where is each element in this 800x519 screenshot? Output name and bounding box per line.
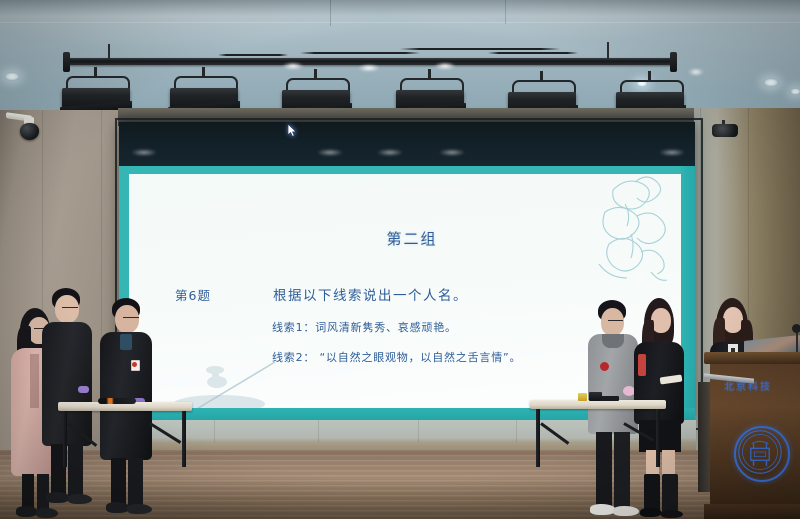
screen-dark-area <box>119 122 695 166</box>
podium-top <box>704 352 800 364</box>
light-flare <box>358 64 380 72</box>
folding-table-left <box>58 402 192 468</box>
dark-device-item <box>601 396 619 401</box>
table-leg <box>182 411 186 467</box>
wall-joint <box>318 420 319 442</box>
badge-dot <box>132 362 137 367</box>
table-leg <box>63 411 67 467</box>
table-leg <box>536 409 540 467</box>
ceiling-seam <box>330 0 331 26</box>
ceiling-seam <box>505 0 506 24</box>
truss-cable <box>218 54 288 56</box>
question-text: 根据以下线索说出一个人名。 <box>273 284 468 304</box>
ceiling-downlight <box>4 72 20 81</box>
podium-base <box>704 504 800 519</box>
shoe <box>46 492 70 503</box>
boot <box>644 474 660 512</box>
dome-security-camera-icon <box>6 112 46 146</box>
table-brace <box>67 422 97 447</box>
truss-cable <box>300 52 420 54</box>
coat-placket <box>30 354 39 408</box>
wall-joint <box>418 420 419 442</box>
ceiling-seam <box>0 22 800 23</box>
glasses <box>62 307 78 311</box>
truss-end-left <box>63 52 70 72</box>
truss-cable <box>488 52 578 54</box>
screen-glint <box>439 149 465 156</box>
light-flare <box>282 62 304 70</box>
collar <box>120 334 132 350</box>
light-flare <box>434 62 456 70</box>
slide-title: 第二组 <box>129 228 695 249</box>
ceiling-shadow-band <box>0 0 800 16</box>
ceiling-downlight <box>763 78 779 87</box>
head <box>651 308 671 333</box>
wireless-microphone-icon <box>98 398 136 404</box>
light-flare <box>688 68 704 76</box>
ceiling-downlight <box>790 88 800 95</box>
wall-joint <box>516 420 517 442</box>
yellow-box-item <box>578 393 587 401</box>
wall-joint <box>214 420 215 442</box>
truss-drop <box>607 42 609 60</box>
table-brace <box>623 422 654 442</box>
wall-mounted-camera-icon <box>712 120 740 140</box>
table-brace <box>540 422 569 444</box>
clue-line-2: 线索2： “以自然之眼观物，以自然之舌言情”。 <box>272 349 521 365</box>
podium[interactable]: 北京科技 <box>708 352 800 519</box>
university-emblem-icon <box>734 426 790 482</box>
camera-dome <box>20 123 39 140</box>
shoe <box>127 504 152 514</box>
mouse-pointer-icon <box>288 124 297 137</box>
leg <box>22 474 34 510</box>
clue-line-1: 线索1：词风清新隽秀、哀感顽艳。 <box>272 319 457 335</box>
podium-microphone-icon <box>792 324 800 333</box>
screen-glint <box>659 149 685 156</box>
table-leg <box>656 409 660 467</box>
table-brace <box>149 422 181 444</box>
held-object <box>78 386 89 393</box>
hood <box>602 334 624 348</box>
boot <box>662 474 678 512</box>
camera-body <box>712 124 738 137</box>
glasses <box>608 320 623 324</box>
glasses <box>123 317 139 321</box>
table-top <box>530 400 666 409</box>
truss-cable <box>400 48 560 50</box>
screen-glint <box>377 149 403 156</box>
strap <box>638 354 646 376</box>
head <box>723 307 743 333</box>
shoe <box>16 506 38 517</box>
folding-table-right <box>530 400 666 468</box>
truss-drop <box>108 44 110 60</box>
screenshot-root: 第二组 第6题 根据以下线索说出一个人名。 线索1：词风清新隽秀、哀感顽艳。 线… <box>0 0 800 519</box>
screen-glint <box>131 149 157 156</box>
shoe <box>640 508 662 517</box>
podium-body: 北京科技 <box>710 364 800 504</box>
question-number-label: 第6题 <box>175 285 211 304</box>
podium-side-panel <box>698 382 710 492</box>
logo-badge <box>600 362 609 371</box>
shoe <box>661 510 683 518</box>
shoe <box>68 494 92 504</box>
screen-glint <box>317 149 343 156</box>
truss-end-right <box>670 52 677 72</box>
